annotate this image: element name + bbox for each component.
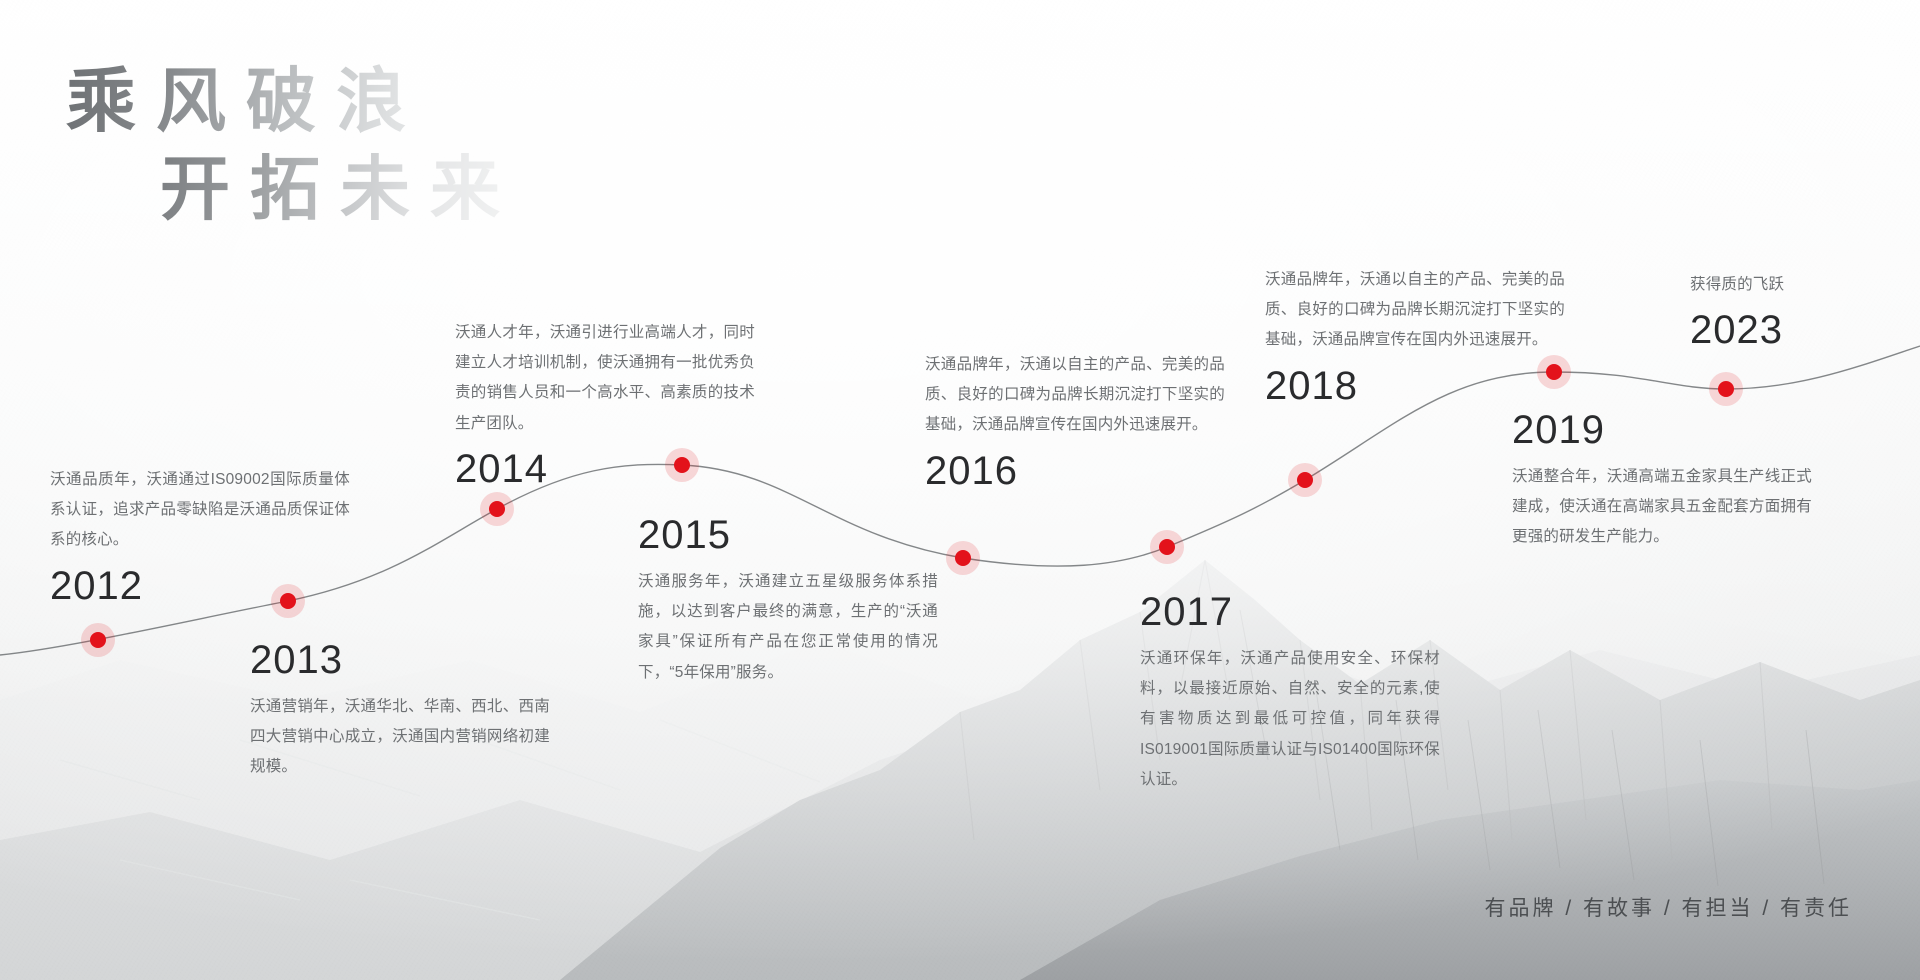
timeline-dot-2013[interactable] — [271, 584, 305, 618]
milestone-description: 沃通品牌年，沃通以自主的产品、完美的品质、良好的口碑为品牌长期沉淀打下坚实的基础… — [925, 350, 1225, 441]
milestone-description: 沃通品牌年，沃通以自主的产品、完美的品质、良好的口碑为品牌长期沉淀打下坚实的基础… — [1265, 265, 1565, 356]
dot-core — [489, 501, 505, 517]
milestone-2016: 沃通品牌年，沃通以自主的产品、完美的品质、良好的口碑为品牌长期沉淀打下坚实的基础… — [925, 350, 1225, 491]
page-title-line-2: 开拓未来 — [160, 152, 520, 230]
page-title-line-1: 乘风破浪 — [66, 64, 520, 142]
dot-core — [280, 593, 296, 609]
milestone-description: 沃通服务年，沃通建立五星级服务体系措施，以达到客户最终的满意，生产的“沃通家具”… — [638, 567, 938, 688]
dot-core — [1718, 381, 1734, 397]
milestone-2017: 2017沃通环保年，沃通产品使用安全、环保材料，以最接近原始、自然、安全的元素,… — [1140, 592, 1440, 795]
milestone-year: 2018 — [1265, 366, 1565, 406]
milestone-2019: 2019沃通整合年，沃通高端五金家具生产线正式建成，使沃通在高端家具五金配套方面… — [1512, 410, 1812, 553]
timeline-dot-2015[interactable] — [665, 448, 699, 482]
milestone-2013: 2013沃通营销年，沃通华北、华南、西北、西南四大营销中心成立，沃通国内营销网络… — [250, 640, 550, 783]
milestone-year: 2015 — [638, 515, 938, 555]
timeline-dot-2018[interactable] — [1288, 463, 1322, 497]
milestone-description: 沃通人才年，沃通引进行业高端人才，同时建立人才培训机制，使沃通拥有一批优秀负责的… — [455, 318, 755, 439]
timeline-dot-2019[interactable] — [1537, 355, 1571, 389]
timeline-dot-2012[interactable] — [81, 623, 115, 657]
footer-tagline: 有品牌 / 有故事 / 有担当 / 有责任 — [1484, 892, 1852, 922]
milestone-year: 2013 — [250, 640, 550, 680]
milestone-2012: 沃通品质年，沃通通过IS09002国际质量体系认证，追求产品零缺陷是沃通品质保证… — [50, 465, 350, 606]
milestone-2015: 2015沃通服务年，沃通建立五星级服务体系措施，以达到客户最终的满意，生产的“沃… — [638, 515, 938, 688]
milestone-year: 2014 — [455, 449, 755, 489]
dot-core — [1297, 472, 1313, 488]
timeline-dot-2023[interactable] — [1709, 372, 1743, 406]
milestone-description: 沃通环保年，沃通产品使用安全、环保材料，以最接近原始、自然、安全的元素,使有害物… — [1140, 644, 1440, 795]
milestone-2018: 沃通品牌年，沃通以自主的产品、完美的品质、良好的口碑为品牌长期沉淀打下坚实的基础… — [1265, 265, 1565, 406]
milestone-2014: 沃通人才年，沃通引进行业高端人才，同时建立人才培训机制，使沃通拥有一批优秀负责的… — [455, 318, 755, 489]
milestone-description: 获得质的飞跃 — [1690, 270, 1920, 300]
dot-core — [955, 550, 971, 566]
timeline-dot-2016[interactable] — [946, 541, 980, 575]
milestone-year: 2017 — [1140, 592, 1440, 632]
timeline-dot-2017[interactable] — [1150, 530, 1184, 564]
dot-core — [1159, 539, 1175, 555]
page-title: 乘风破浪 开拓未来 — [66, 64, 520, 231]
timeline-dot-2014[interactable] — [480, 492, 514, 526]
milestone-2023: 获得质的飞跃2023 — [1690, 270, 1920, 350]
milestone-description: 沃通整合年，沃通高端五金家具生产线正式建成，使沃通在高端家具五金配套方面拥有更强… — [1512, 462, 1812, 553]
footer-tagline-text: 有品牌 / 有故事 / 有担当 / 有责任 — [1484, 897, 1852, 920]
dot-core — [1546, 364, 1562, 380]
milestone-description: 沃通品质年，沃通通过IS09002国际质量体系认证，追求产品零缺陷是沃通品质保证… — [50, 465, 350, 556]
milestone-year: 2023 — [1690, 310, 1920, 350]
dot-core — [674, 457, 690, 473]
milestone-year: 2016 — [925, 451, 1225, 491]
milestone-year: 2012 — [50, 566, 350, 606]
slide-canvas: 乘风破浪 开拓未来 沃通品质年，沃通通过IS09002国际质量体系认证，追求产品… — [0, 0, 1920, 980]
milestone-year: 2019 — [1512, 410, 1812, 450]
milestone-description: 沃通营销年，沃通华北、华南、西北、西南四大营销中心成立，沃通国内营销网络初建规模… — [250, 692, 550, 783]
dot-core — [90, 632, 106, 648]
